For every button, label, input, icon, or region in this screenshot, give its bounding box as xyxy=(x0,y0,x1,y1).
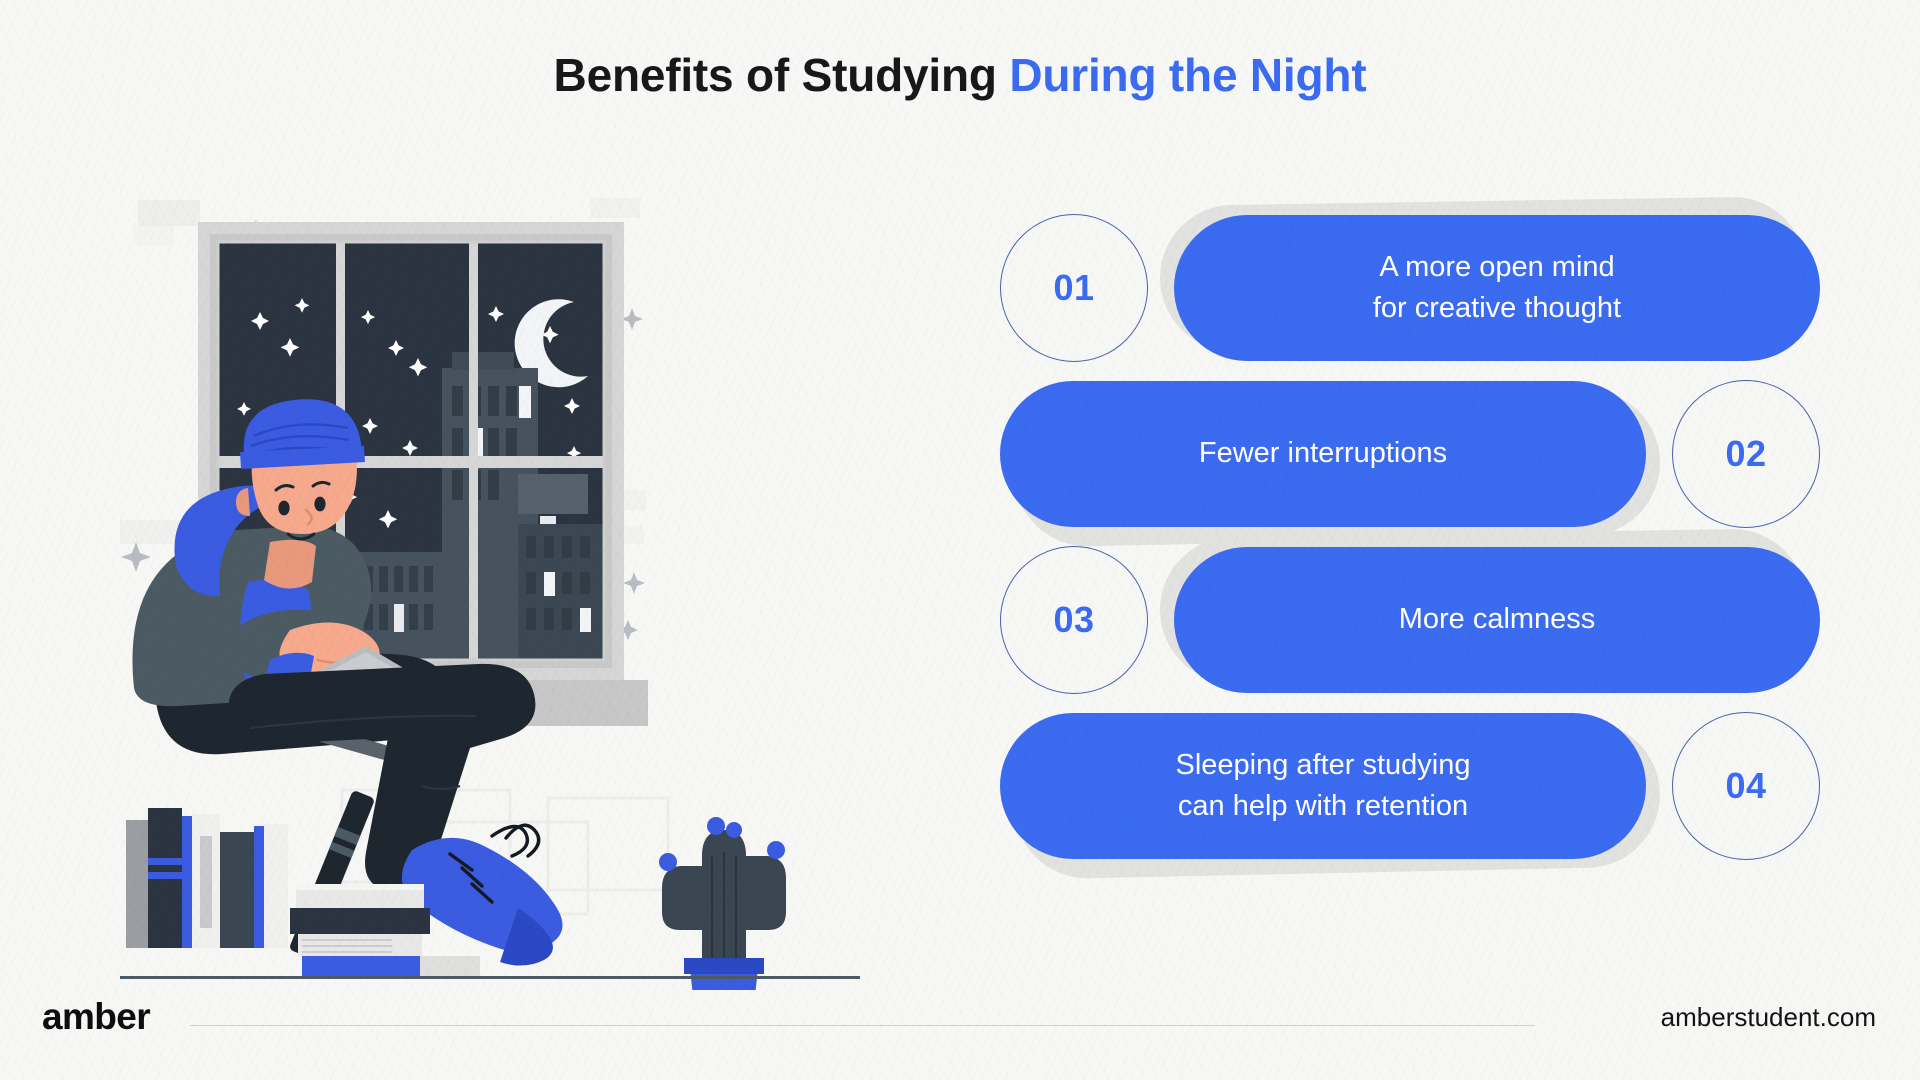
benefit-pill-01[interactable]: A more open mind for creative thought xyxy=(1174,215,1820,361)
benefit-text-line-01-2: for creative thought xyxy=(1373,288,1621,329)
page-title-plain: Benefits of Studying xyxy=(554,49,1010,101)
benefit-text-line-03-1: More calmness xyxy=(1399,599,1596,640)
night-study-illustration xyxy=(120,190,860,990)
benefit-item-01[interactable]: 01 A more open mind for creative thought xyxy=(1000,205,1820,371)
benefit-pill-wrap-02: Fewer interruptions xyxy=(1000,381,1646,527)
cactus-plant xyxy=(659,817,786,990)
website-url[interactable]: amberstudent.com xyxy=(1661,1002,1876,1033)
benefit-number-04: 04 xyxy=(1725,765,1766,807)
page-title: Benefits of Studying During the Night xyxy=(0,48,1920,102)
benefit-pill-wrap-03: More calmness xyxy=(1174,547,1820,693)
page-title-accent: During the Night xyxy=(1009,49,1366,101)
benefit-number-01: 01 xyxy=(1053,267,1094,309)
benefit-item-02[interactable]: 02 Fewer interruptions xyxy=(1000,371,1820,537)
benefit-text-line-04-2: can help with retention xyxy=(1175,786,1470,827)
benefit-text-line-01-1: A more open mind xyxy=(1373,247,1621,288)
benefit-item-03[interactable]: 03 More calmness xyxy=(1000,537,1820,703)
benefit-number-badge-02: 02 xyxy=(1672,380,1820,528)
benefit-number-badge-04: 04 xyxy=(1672,712,1820,860)
benefit-pill-04[interactable]: Sleeping after studying can help with re… xyxy=(1000,713,1646,859)
brand-logo[interactable]: amber xyxy=(42,996,150,1038)
benefit-number-badge-03: 03 xyxy=(1000,546,1148,694)
benefit-pill-02[interactable]: Fewer interruptions xyxy=(1000,381,1646,527)
benefit-item-04[interactable]: 04 Sleeping after studying can help with… xyxy=(1000,703,1820,869)
benefit-pill-03[interactable]: More calmness xyxy=(1174,547,1820,693)
sneaker-icon xyxy=(402,825,563,965)
benefit-pill-wrap-04: Sleeping after studying can help with re… xyxy=(1000,713,1646,859)
benefit-number-02: 02 xyxy=(1725,433,1766,475)
benefits-list: 01 A more open mind for creative thought… xyxy=(1000,205,1820,869)
benefit-number-03: 03 xyxy=(1053,599,1094,641)
benefit-number-badge-01: 01 xyxy=(1000,214,1148,362)
footer: amber amberstudent.com xyxy=(0,970,1920,1080)
footer-divider xyxy=(190,1025,1535,1026)
infographic-canvas: Benefits of Studying During the Night xyxy=(0,0,1920,1080)
benefit-text-line-02-1: Fewer interruptions xyxy=(1199,433,1447,474)
benefit-text-line-04-1: Sleeping after studying xyxy=(1175,745,1470,786)
benefit-pill-wrap-01: A more open mind for creative thought xyxy=(1174,215,1820,361)
